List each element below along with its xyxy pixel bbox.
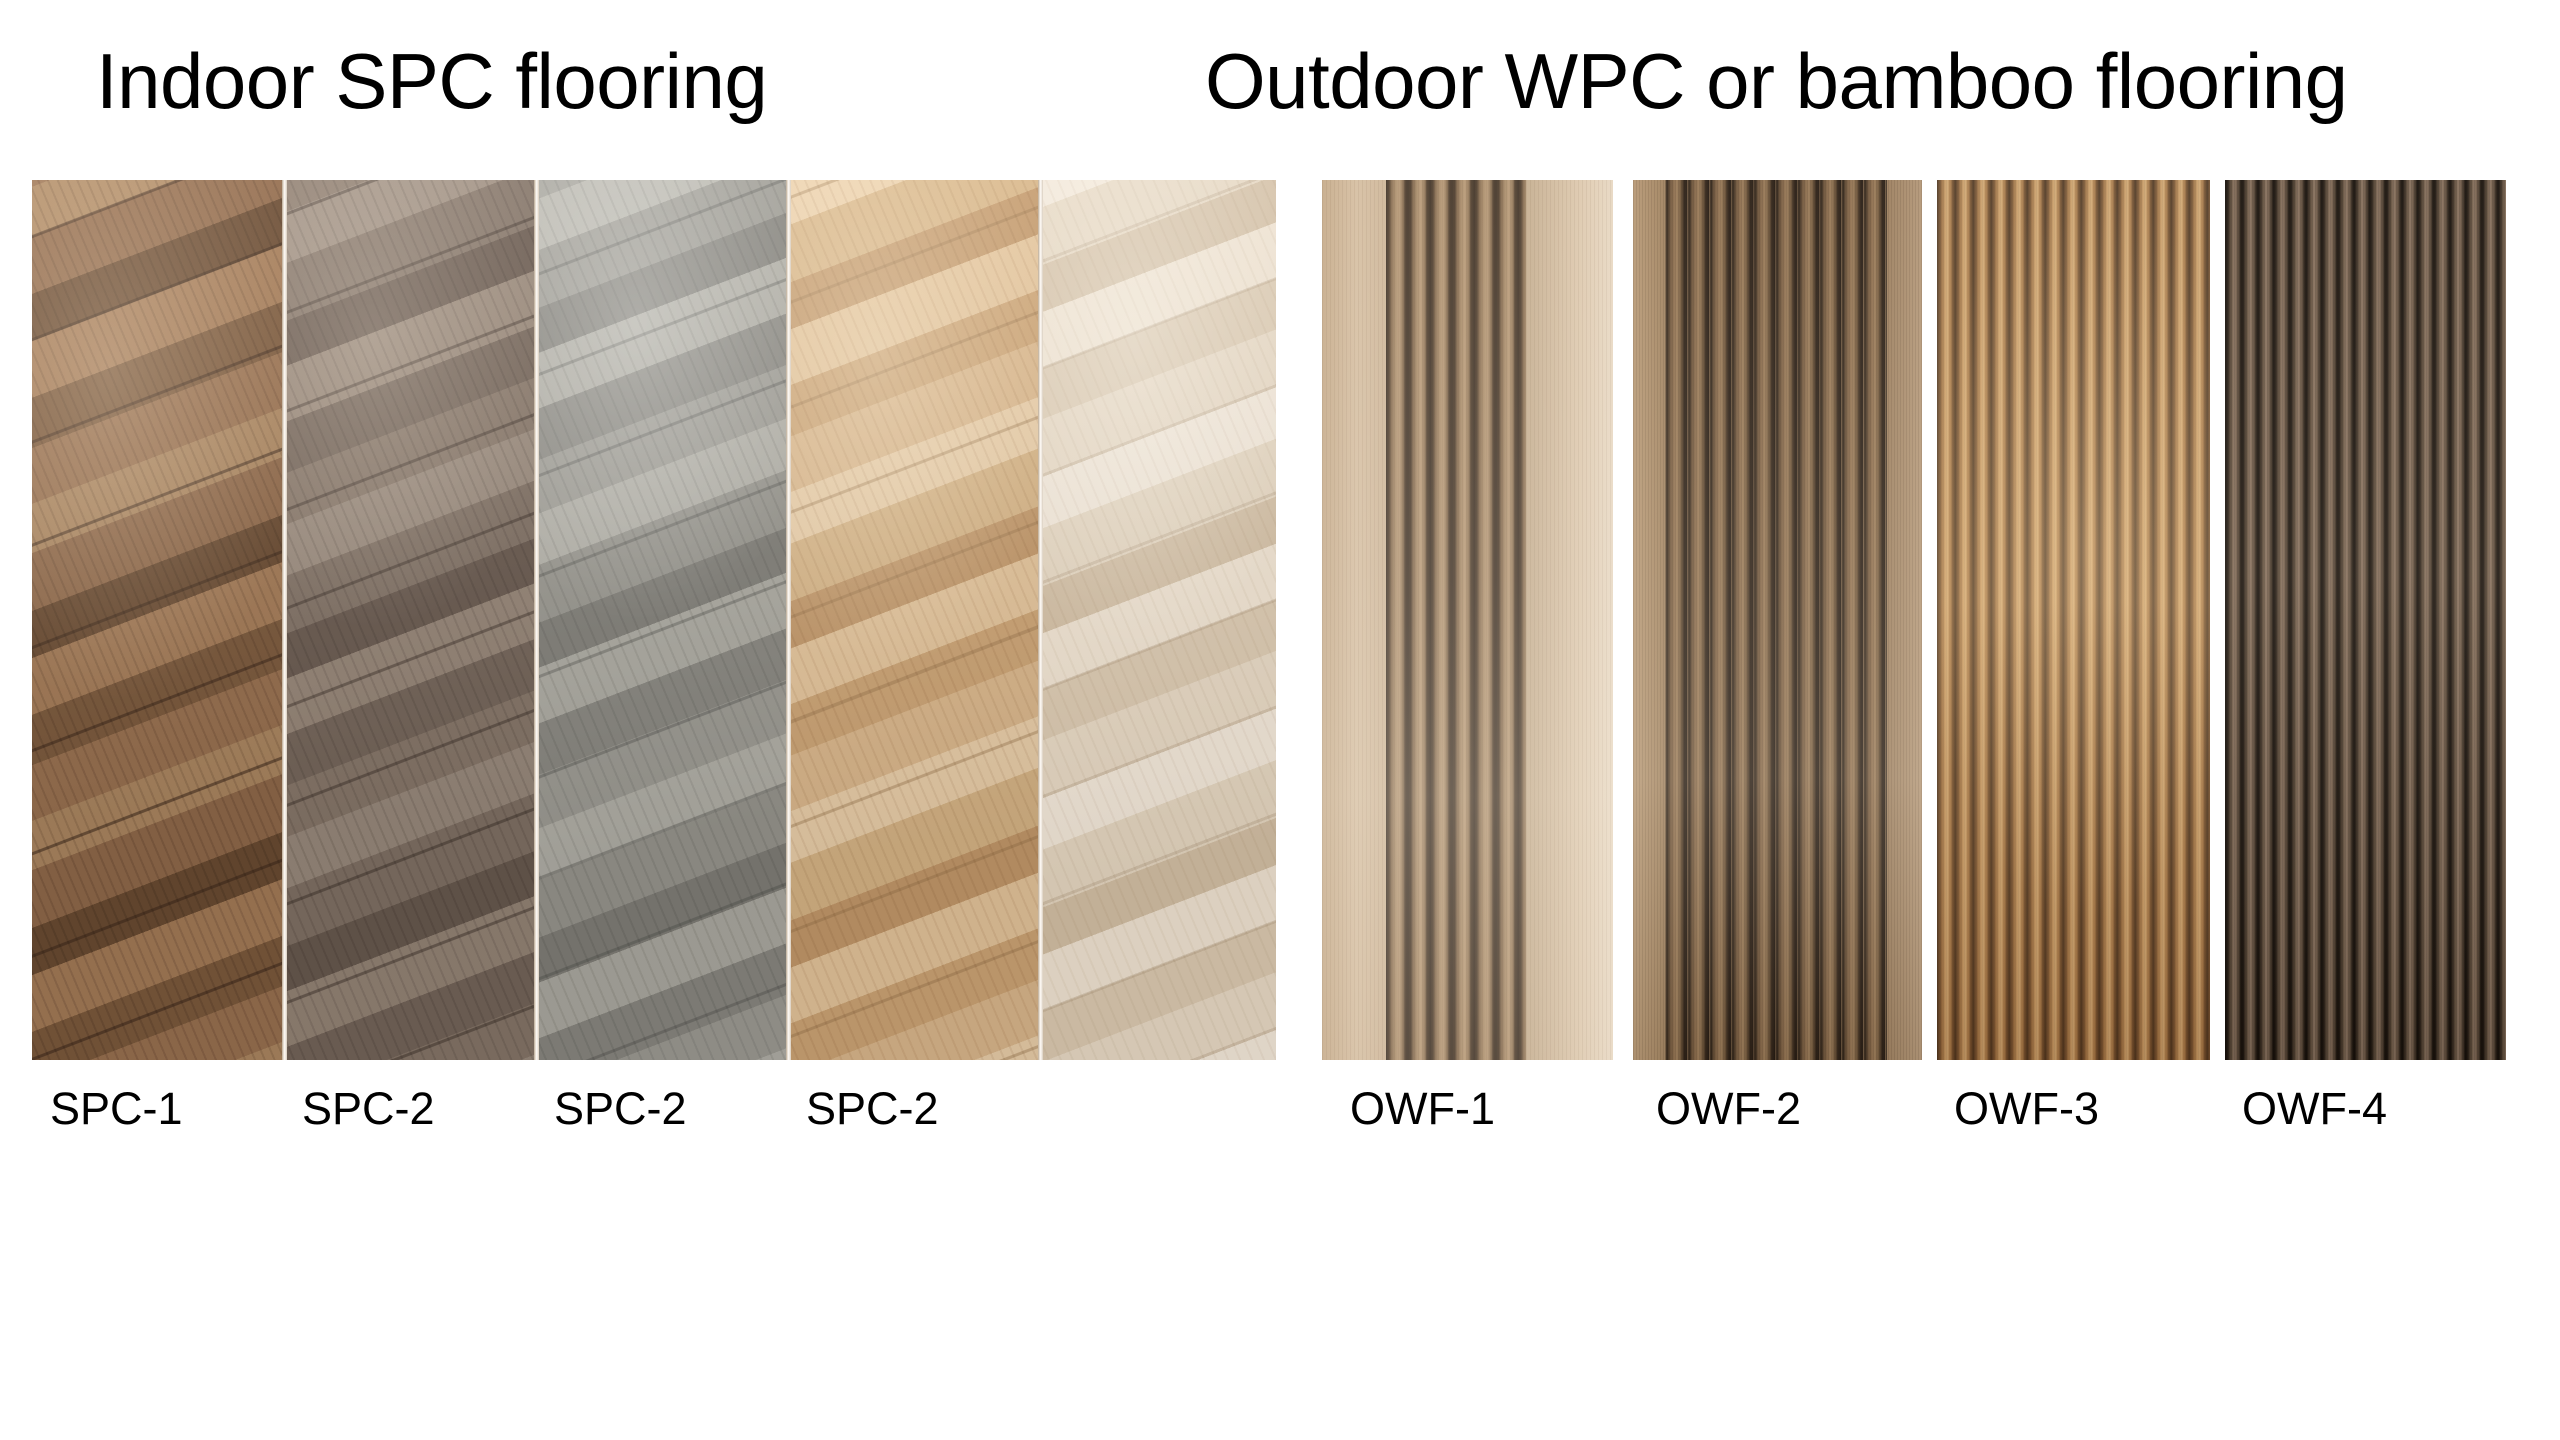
vertical-grain — [1633, 180, 1922, 1060]
indoor-section-heading: Indoor SPC flooring — [96, 42, 767, 120]
vertical-grain — [2225, 180, 2506, 1060]
vertical-grain — [1937, 180, 2210, 1060]
wood-grain-lines — [1040, 180, 1276, 1060]
swatch-spc-1[interactable] — [32, 180, 284, 1060]
caption-owf-4: OWF-4 — [2242, 1078, 2387, 1140]
caption-owf-3: OWF-3 — [1954, 1078, 2099, 1140]
swatch-texture — [536, 180, 788, 1060]
outdoor-caption-row: OWF-1 OWF-2 OWF-3 OWF-4 — [1322, 1078, 2506, 1148]
plank-grain-layer — [536, 180, 788, 1060]
swatch-spc-3[interactable] — [536, 180, 788, 1060]
swatch-texture — [788, 180, 1040, 1060]
caption-spc-4: SPC-2 — [806, 1078, 939, 1140]
swatch-seam — [786, 180, 791, 1060]
swatch-spc-2[interactable] — [284, 180, 536, 1060]
plank-grain-layer — [32, 180, 284, 1060]
swatch-owf-1[interactable] — [1322, 180, 1613, 1060]
wood-grain-lines — [284, 180, 536, 1060]
plank-grain-layer — [284, 180, 536, 1060]
caption-spc-2: SPC-2 — [302, 1078, 435, 1140]
vertical-grain — [1322, 180, 1613, 1060]
swatch-texture — [32, 180, 284, 1060]
swatch-spc-4[interactable] — [788, 180, 1040, 1060]
caption-owf-2: OWF-2 — [1656, 1078, 1801, 1140]
caption-spc-3: SPC-2 — [554, 1078, 687, 1140]
swatch-spc-5[interactable] — [1040, 180, 1276, 1060]
wood-grain-lines — [536, 180, 788, 1060]
wood-grain-lines — [32, 180, 284, 1060]
swatch-owf-4[interactable] — [2225, 180, 2506, 1060]
swatch-seam — [1038, 180, 1043, 1060]
swatch-seam — [534, 180, 539, 1060]
caption-spc-1: SPC-1 — [50, 1078, 183, 1140]
plank-grain-layer — [1040, 180, 1276, 1060]
swatch-owf-3[interactable] — [1937, 180, 2210, 1060]
flooring-sample-board: Indoor SPC flooring Outdoor WPC or bambo… — [0, 0, 2560, 1440]
plank-grain-layer — [788, 180, 1040, 1060]
outdoor-swatch-group — [1322, 180, 2506, 1060]
swatch-texture — [284, 180, 536, 1060]
swatch-texture — [1040, 180, 1276, 1060]
wood-grain-lines — [788, 180, 1040, 1060]
caption-owf-1: OWF-1 — [1350, 1078, 1495, 1140]
outdoor-section-heading: Outdoor WPC or bamboo flooring — [1205, 42, 2348, 120]
indoor-caption-row: SPC-1 SPC-2 SPC-2 SPC-2 — [32, 1078, 1276, 1148]
indoor-swatch-group — [32, 180, 1276, 1060]
swatch-seam — [282, 180, 287, 1060]
swatch-owf-2[interactable] — [1633, 180, 1922, 1060]
